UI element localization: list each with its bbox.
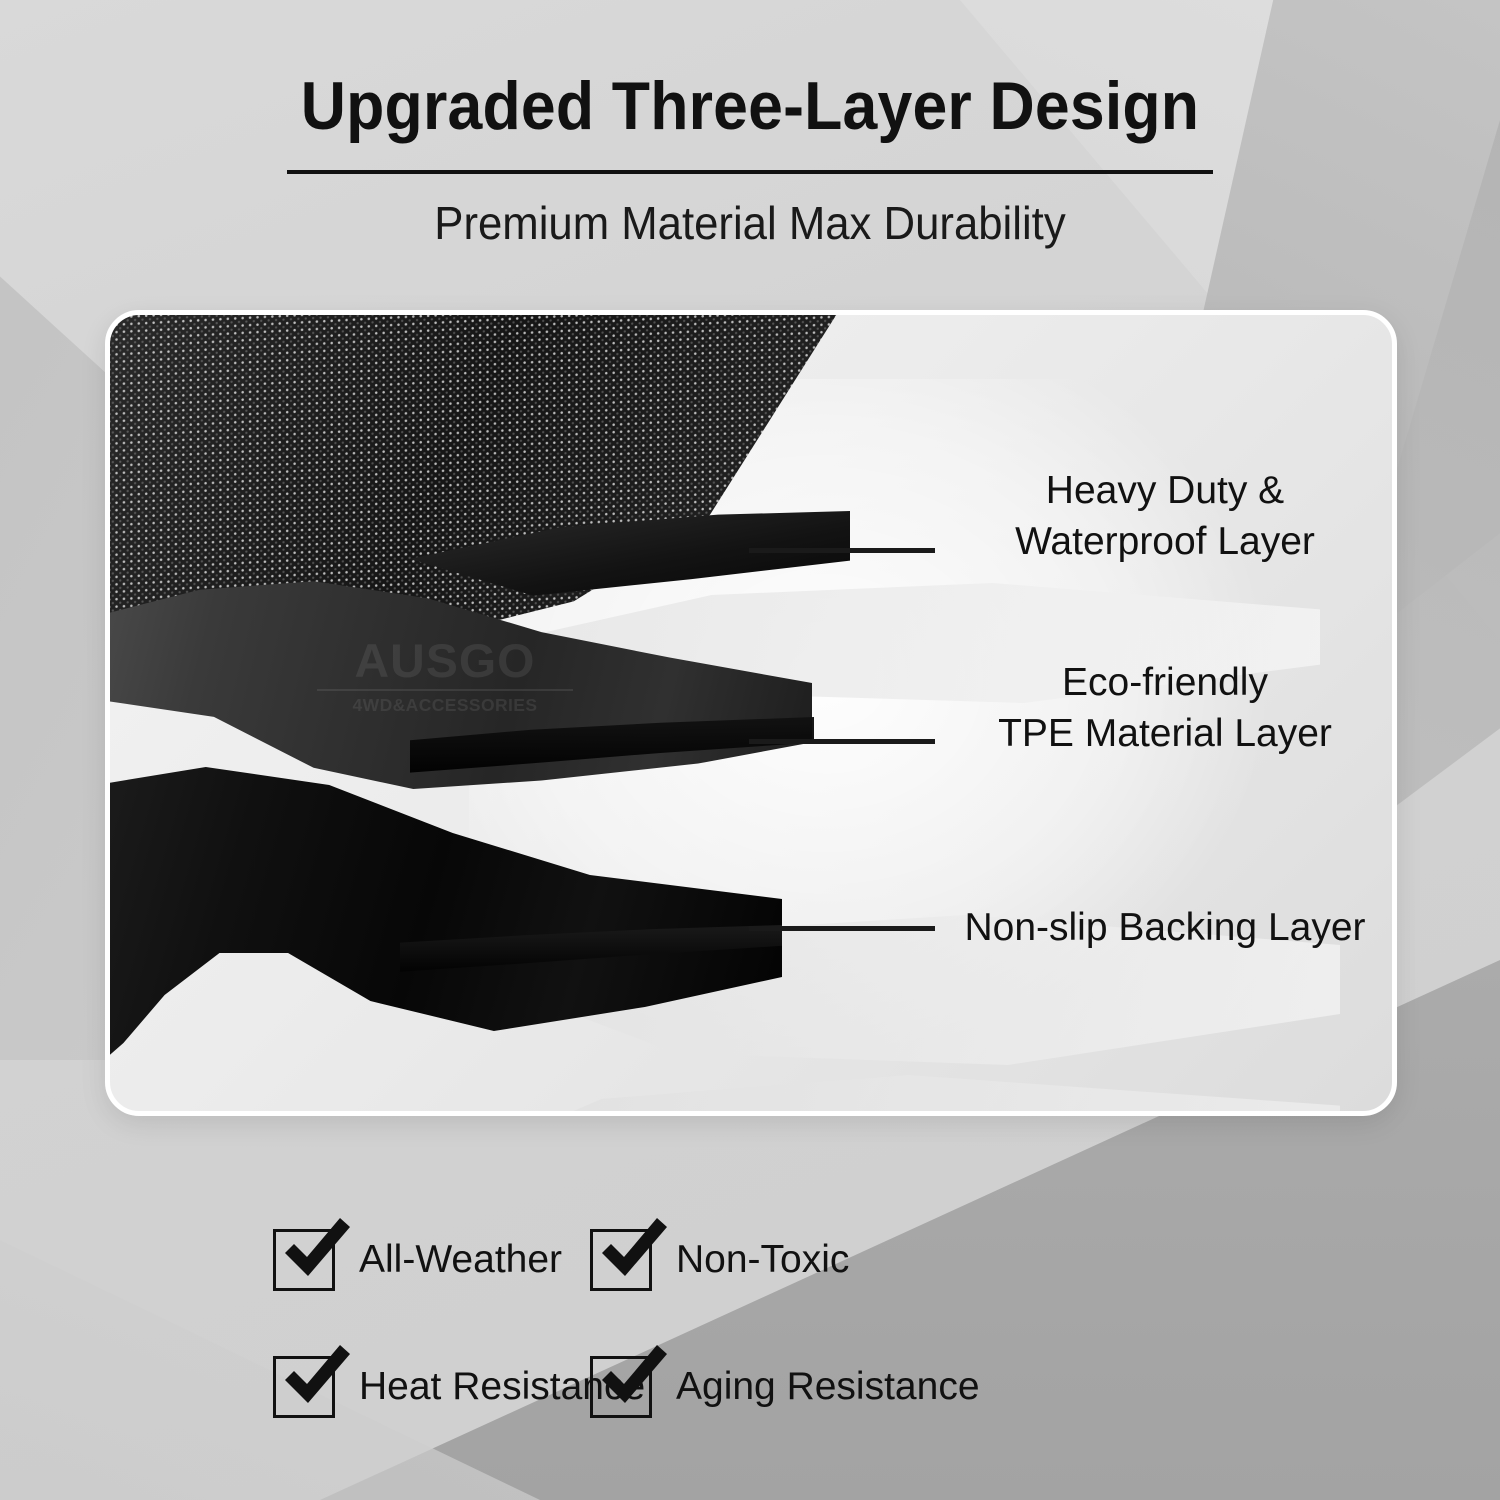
- feature-item-aging-resistance: Aging Resistance: [590, 1323, 1190, 1450]
- feature-list: All-Weather Non-Toxic Heat Resistance: [0, 1196, 1500, 1450]
- checkbox-aging-resistance: [590, 1356, 652, 1418]
- callout-label-middle: Eco-friendly TPE Material Layer: [942, 657, 1388, 760]
- feature-row-2: Heat Resistance Aging Resistance: [0, 1323, 1500, 1450]
- watermark-brand: AUSGO: [312, 637, 577, 684]
- watermark-divider: [317, 689, 573, 691]
- header: Upgraded Three-Layer Design Premium Mate…: [0, 0, 1500, 250]
- callout-top-line2: Waterproof Layer: [942, 516, 1388, 567]
- page-title: Upgraded Three-Layer Design: [60, 72, 1440, 140]
- page-subtitle: Premium Material Max Durability: [38, 196, 1463, 250]
- checkbox-heat-resistance: [273, 1356, 335, 1418]
- feature-label: All-Weather: [359, 1238, 562, 1282]
- feature-item-all-weather: All-Weather: [0, 1196, 590, 1323]
- title-divider: [287, 170, 1213, 174]
- checkbox-all-weather: [273, 1229, 335, 1291]
- check-icon: [277, 1340, 355, 1418]
- feature-label: Aging Resistance: [676, 1365, 980, 1409]
- checkbox-non-toxic: [590, 1229, 652, 1291]
- check-icon: [594, 1340, 672, 1418]
- feature-item-heat-resistance: Heat Resistance: [0, 1323, 590, 1450]
- callout-middle-line2: TPE Material Layer: [942, 708, 1388, 759]
- watermark-tagline: 4WD&ACCESSORIES: [315, 695, 575, 716]
- check-icon: [277, 1213, 355, 1291]
- callout-label-bottom: Non-slip Backing Layer: [942, 902, 1388, 953]
- callout-top-line1: Heavy Duty &: [942, 465, 1388, 516]
- brand-watermark: AUSGO 4WD&ACCESSORIES: [315, 637, 575, 716]
- leader-line-middle: [749, 739, 935, 744]
- feature-label: Non-Toxic: [676, 1238, 849, 1282]
- callout-middle-line1: Eco-friendly: [942, 657, 1388, 708]
- ghost-layer-bottom: [440, 1075, 1340, 1116]
- check-icon: [594, 1213, 672, 1291]
- leader-line-top: [749, 548, 935, 553]
- callout-bottom-line1: Non-slip Backing Layer: [942, 902, 1388, 953]
- layer-diagram-card: AUSGO 4WD&ACCESSORIES Heavy Duty & Water…: [105, 310, 1397, 1116]
- leader-line-bottom: [749, 926, 935, 931]
- feature-item-non-toxic: Non-Toxic: [590, 1196, 1190, 1323]
- callout-label-top: Heavy Duty & Waterproof Layer: [942, 465, 1388, 568]
- feature-row-1: All-Weather Non-Toxic: [0, 1196, 1500, 1323]
